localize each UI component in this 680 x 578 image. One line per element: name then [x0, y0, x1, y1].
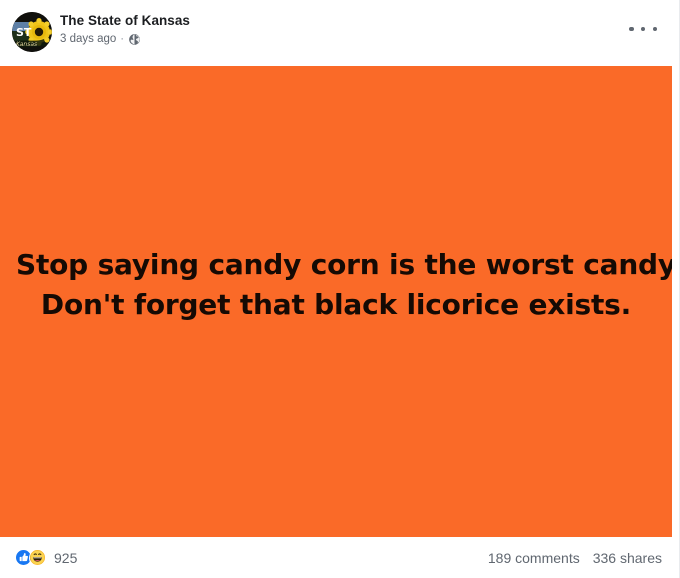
meme-text: Stop saying candy corn is the worst cand… [16, 245, 656, 325]
shares-count[interactable]: 336 shares [593, 549, 662, 567]
globe-icon[interactable] [128, 33, 141, 46]
kansas-state-logo-avatar[interactable]: ST Kansas [12, 12, 52, 52]
post-timestamp[interactable]: 3 days ago [60, 32, 116, 46]
menu-dot [641, 27, 646, 32]
engagement-counts: 189 comments 336 shares [488, 549, 662, 567]
meme-text-line-2: Don't forget that black licorice exists. [16, 285, 656, 325]
haha-laughing-glyph [30, 550, 45, 565]
menu-dot [629, 27, 634, 32]
post-header-text: The State of Kansas 3 days ago · [60, 11, 190, 46]
comments-count[interactable]: 189 comments [488, 549, 580, 567]
facebook-post-card: ST Kansas The State of Kansas 3 days ago… [0, 0, 680, 578]
avatar-image: ST Kansas [12, 12, 52, 52]
post-footer: 925 189 comments 336 shares [0, 537, 679, 578]
svg-text:Kansas: Kansas [16, 41, 37, 48]
post-meta-row: 3 days ago · [60, 32, 190, 46]
meta-separator: · [120, 32, 124, 46]
haha-laughing-icon [29, 549, 47, 567]
svg-text:ST: ST [16, 26, 32, 39]
reaction-icons [15, 549, 47, 567]
menu-dot [653, 27, 658, 32]
reaction-count[interactable]: 925 [54, 549, 77, 567]
page-name[interactable]: The State of Kansas [60, 12, 190, 29]
post-image[interactable]: Stop saying candy corn is the worst cand… [0, 66, 672, 537]
reactions-summary[interactable]: 925 [15, 549, 77, 567]
more-options-icon[interactable] [629, 19, 657, 39]
globe-icon-glyph [128, 33, 141, 46]
meme-text-line-1: Stop saying candy corn is the worst cand… [16, 245, 656, 285]
post-header: ST Kansas The State of Kansas 3 days ago… [0, 0, 679, 66]
